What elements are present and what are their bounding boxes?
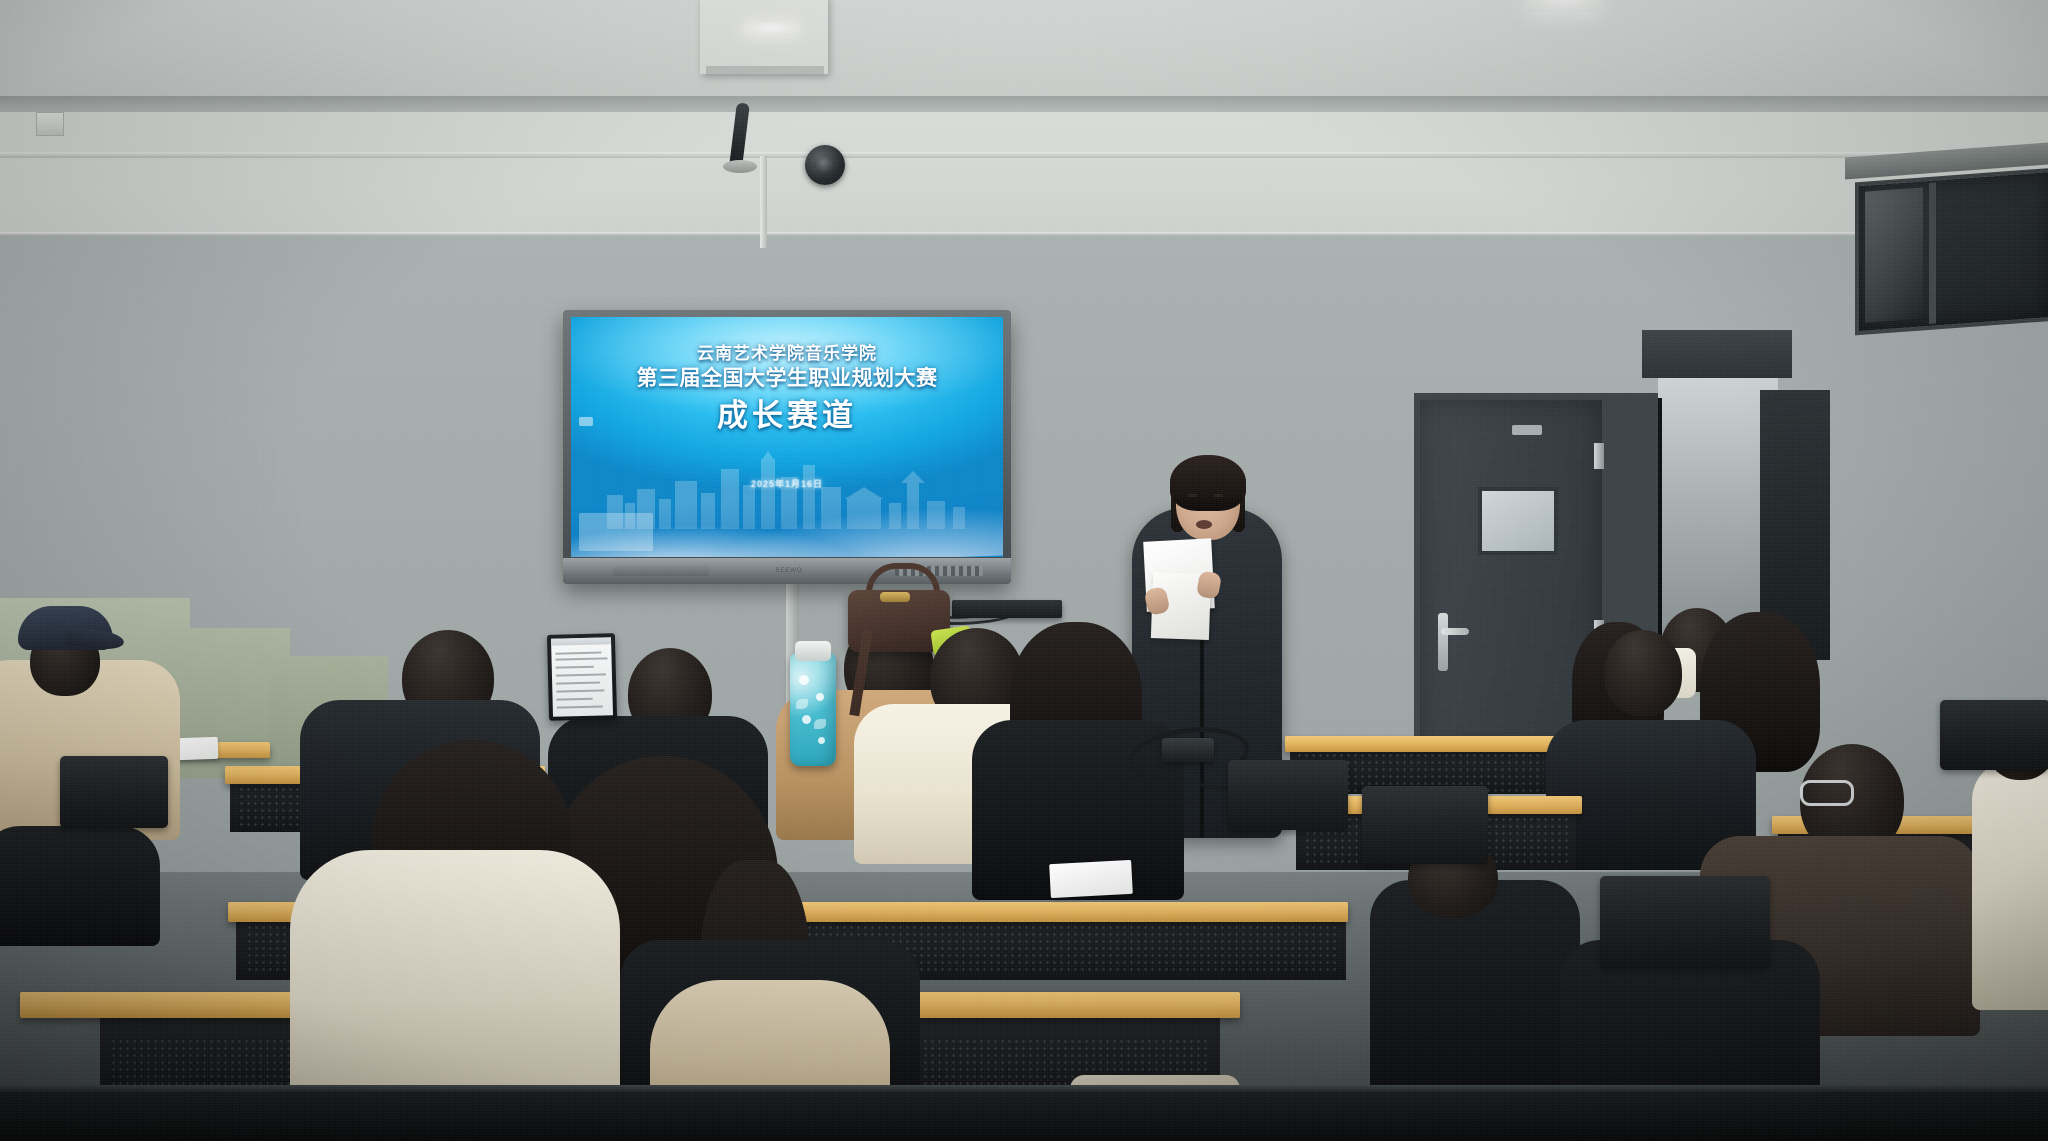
window-mullion	[1929, 182, 1936, 324]
student-legs-cap	[0, 826, 160, 946]
water-bottle-cap	[795, 641, 831, 661]
door-transom	[1642, 330, 1792, 378]
desk-right-back	[1285, 736, 1555, 752]
display-speaker-grille	[613, 566, 709, 576]
slide-line-1: 云南艺术学院音乐学院	[571, 343, 1003, 365]
display-brand-label: SEEWO	[767, 567, 811, 575]
presenter-hair	[1170, 455, 1246, 511]
slide-date: 2025年1月16日	[571, 477, 1003, 490]
presenter-eye-left	[1188, 494, 1197, 497]
front-bench-rail	[0, 1085, 2048, 1092]
student-body-cream-puffer	[290, 850, 620, 1120]
ceiling-camera-dome-icon	[805, 145, 845, 185]
presenter-eye-right	[1214, 494, 1223, 497]
chair-back-right-1	[1228, 760, 1348, 830]
slide-text-block: 云南艺术学院音乐学院 第三届全国大学生职业规划大赛 成长赛道	[571, 343, 1003, 440]
slide-thumbnail-block	[579, 513, 653, 551]
interactive-display-screen[interactable]: 云南艺术学院音乐学院 第三届全国大学生职业规划大赛 成长赛道 2025年1月16…	[571, 317, 1003, 557]
door-hinge-top	[1594, 443, 1604, 469]
ceiling-light-right-icon	[1525, 0, 1603, 12]
paper-sheets-icon	[1049, 860, 1133, 898]
door-handle-icon[interactable]	[1438, 613, 1448, 671]
av-receiver-box-icon	[952, 600, 1062, 618]
door-vision-panel-icon	[1478, 487, 1558, 555]
wall-upper-band	[0, 112, 2048, 242]
laptop-toolbar	[551, 637, 611, 646]
corridor-window-icon	[1855, 168, 2048, 336]
ceiling-air-duct-icon	[700, 0, 828, 74]
door-lever-icon[interactable]	[1441, 628, 1469, 635]
window-glass-pane	[1865, 187, 1923, 322]
eyeglasses-icon	[1800, 780, 1854, 806]
classroom-photo: 云南艺术学院音乐学院 第三届全国大学生职业规划大赛 成长赛道 2025年1月16…	[0, 0, 2048, 1141]
student-bun-head	[1604, 630, 1682, 716]
wall-conduit	[0, 152, 2048, 158]
door-brand-plate	[1512, 425, 1542, 435]
ceiling-microphone-base	[723, 160, 757, 173]
wall-conduit-drop	[760, 156, 767, 248]
water-bottle-icon[interactable]	[790, 653, 836, 766]
slide-line-2: 第三届全国大学生职业规划大赛	[571, 365, 1003, 392]
slide-line-3: 成长赛道	[571, 392, 1003, 440]
laptop-icon[interactable]	[547, 633, 617, 721]
student-body-cream-coat-right	[1972, 760, 2048, 1010]
chair-back-right-2	[1600, 876, 1770, 968]
ceiling-light-icon	[742, 22, 800, 36]
ceiling-air-duct-lip	[706, 66, 824, 74]
handbag-clasp-icon	[880, 592, 910, 602]
front-bench	[0, 1085, 2048, 1141]
laptop-screen	[551, 637, 613, 717]
chair-back-right-4	[1940, 700, 2048, 770]
chair-back-right-3	[1362, 786, 1488, 864]
chair-back-left-1	[60, 756, 168, 828]
presenter-mouth	[1196, 520, 1212, 529]
wall-socket-plate-icon	[36, 112, 64, 136]
